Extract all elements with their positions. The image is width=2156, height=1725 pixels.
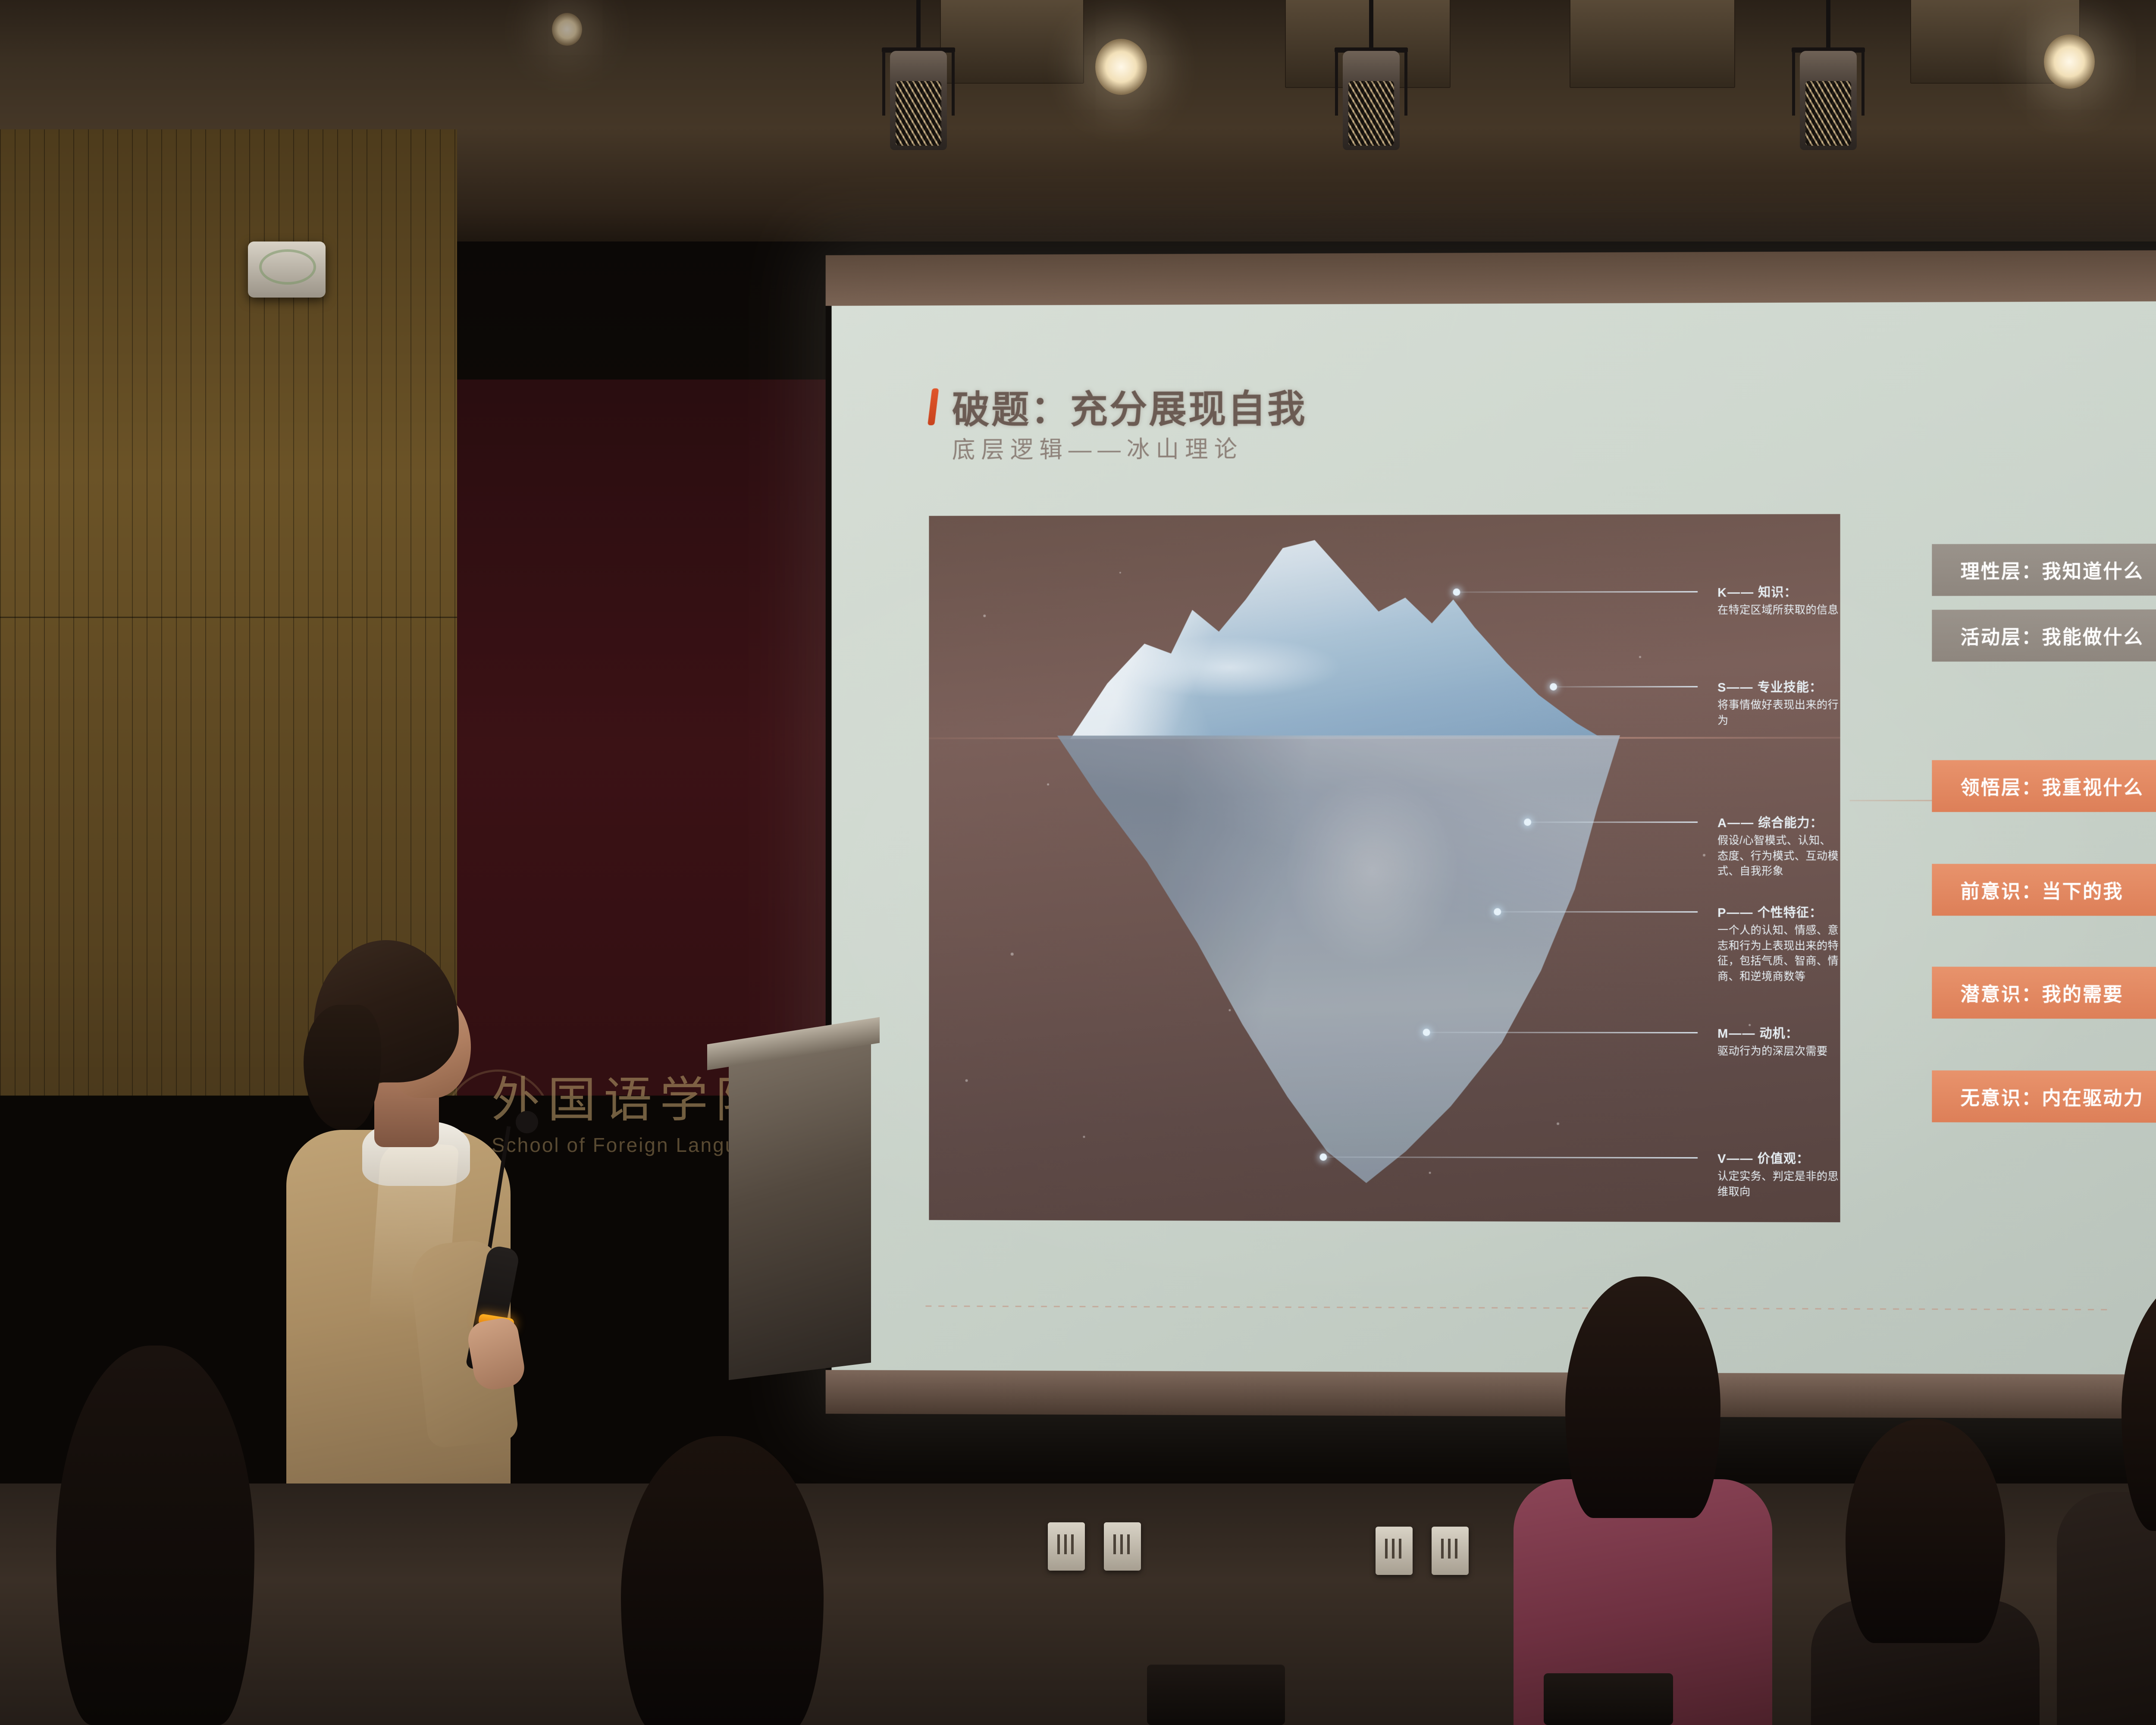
leader-line [1553, 686, 1698, 687]
layer-box-rational[interactable]: 理性层：我知道什么 [1932, 543, 2156, 596]
recessed-downlight [1095, 39, 1147, 95]
ceiling-panel [940, 0, 1084, 84]
page-title: 破题：充分展现自我 [952, 378, 1307, 434]
layer-box-activity[interactable]: 活动层：我能做什么 [1932, 609, 2156, 662]
smoke-detector [248, 241, 326, 298]
annotation-key: S—— [1717, 681, 1753, 695]
recessed-downlight [2044, 34, 2095, 89]
annotation-heading: 知识： [1758, 586, 1797, 599]
projection-screen: 破题：充分展现自我 底层逻辑——冰山理论 [826, 249, 2156, 1420]
screen-bottom-band [826, 1370, 2156, 1420]
audience-member [1794, 1419, 2053, 1725]
ceiling-panel [1570, 0, 1735, 88]
stage-spotlight [1332, 0, 1410, 164]
annotation-personality: P—— 个性特征： 一个人的认知、情感、意志和行为上表现出来的特征，包括气质、智… [1717, 903, 1840, 984]
layer-box-column: 理性层：我知道什么 活动层：我能做什么 领悟层：我重视什么 前意识：当下的我 潜… [1932, 543, 2156, 544]
leader-line [1497, 911, 1698, 913]
annotation-body: 一个人的认知、情感、意志和行为上表现出来的特征，包括气质、智商、情商、和逆境商数… [1717, 923, 1840, 984]
audience-member [2053, 1272, 2156, 1725]
wall-socket [1048, 1522, 1085, 1571]
wall-seam [0, 617, 457, 618]
stage-spotlight [880, 0, 957, 164]
leader-dot [1494, 908, 1501, 916]
iceberg-photo-panel: K—— 知识： 在特定区域所获取的信息 S—— 专业技能： 将事情做好表现出来的… [929, 514, 1840, 1222]
layer-box-insight[interactable]: 领悟层：我重视什么 [1932, 760, 2156, 812]
stage-spotlight [1789, 0, 1867, 164]
annotation-body: 假设/心智模式、认知、态度、行为模式、互动模式、自我形象 [1717, 833, 1840, 879]
recessed-downlight [552, 13, 582, 46]
leader-line [1527, 822, 1698, 823]
layer-box-subconscious[interactable]: 潜意识：我的需要 [1932, 967, 2156, 1019]
annotation-body: 将事情做好表现出来的行为 [1717, 698, 1840, 728]
wall-socket [1104, 1522, 1141, 1571]
projected-slide: 破题：充分展现自我 底层逻辑——冰山理论 [832, 301, 2156, 1376]
wall-socket [1432, 1527, 1469, 1575]
annotation-skill: S—— 专业技能： 将事情做好表现出来的行为 [1717, 677, 1840, 728]
leader-dot [1453, 589, 1460, 596]
lectern [729, 1026, 871, 1380]
chair-back [1544, 1673, 1673, 1725]
wall-socket [1376, 1527, 1413, 1575]
lecture-hall-photo: 破题：充分展现自我 底层逻辑——冰山理论 [0, 0, 2156, 1725]
annotation-knowledge: K—— 知识： 在特定区域所获取的信息 [1717, 582, 1839, 618]
annotation-ability: A—— 综合能力： 假设/心智模式、认知、态度、行为模式、互动模式、自我形象 [1717, 813, 1840, 879]
annotation-key: A—— [1717, 816, 1754, 830]
annotation-heading: 综合能力： [1758, 816, 1823, 830]
title-accent-tick [928, 388, 939, 425]
annotation-heading: 动机： [1759, 1027, 1798, 1041]
presenter-hair-back [304, 1005, 381, 1130]
annotation-heading: 专业技能： [1758, 681, 1822, 695]
annotation-heading: 个性特征： [1758, 906, 1822, 920]
layer-box-preconscious[interactable]: 前意识：当下的我 [1932, 864, 2156, 916]
screen-top-band [826, 249, 2156, 306]
leader-dot [1423, 1029, 1430, 1036]
annotation-body: 在特定区域所获取的信息 [1717, 602, 1839, 618]
microphone-stand-knob [516, 1111, 538, 1133]
layer-box-unconscious[interactable]: 无意识：内在驱动力 [1932, 1070, 2156, 1123]
audience-member [26, 1345, 302, 1725]
audience-member [1505, 1276, 1781, 1725]
annotation-key: V—— [1717, 1152, 1753, 1166]
leader-dot [1524, 819, 1531, 826]
chair-back [1147, 1665, 1285, 1725]
annotation-body: 认定实务、判定是非的思维取向 [1717, 1169, 1840, 1200]
annotation-values: V—— 价值观： 认定实务、判定是非的思维取向 [1717, 1148, 1840, 1200]
slide-title-row: 破题：充分展现自我 [930, 378, 1307, 434]
annotation-body: 驱动行为的深层次需要 [1717, 1044, 1827, 1059]
annotation-key: M—— [1717, 1027, 1755, 1041]
slide-subtitle: 底层逻辑——冰山理论 [952, 430, 1243, 464]
annotation-key: K—— [1717, 586, 1754, 600]
annotation-motivation: M—— 动机： 驱动行为的深层次需要 [1717, 1023, 1827, 1059]
audience-member [595, 1436, 862, 1725]
annotation-heading: 价值观： [1758, 1152, 1809, 1166]
annotation-key: P—— [1717, 906, 1753, 920]
leader-dot [1550, 683, 1557, 690]
leader-dot [1319, 1154, 1327, 1161]
